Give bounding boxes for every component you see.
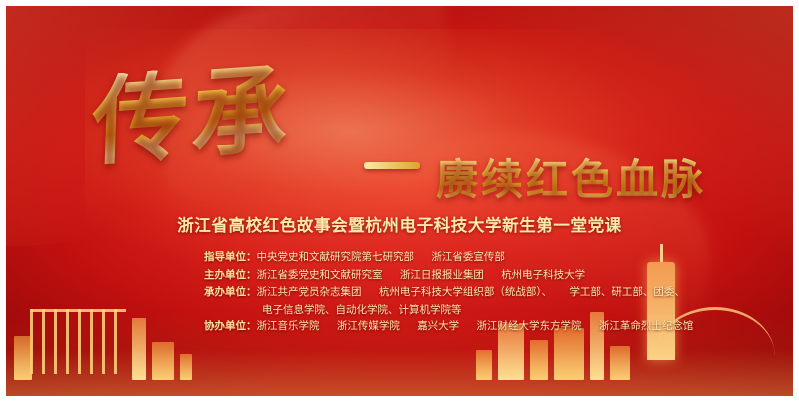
title-dash-decor: [364, 162, 420, 169]
credit-row: 协办单位： 浙江音乐学院 浙江传媒学院 嘉兴大学 浙江财经大学东方学院 浙江革命…: [204, 318, 724, 335]
credit-row: 承办单位： 浙江共产党员杂志集团 杭州电子科技大学组织部（统战部）、 学工部、研…: [204, 284, 724, 301]
credit-values: 浙江共产党员杂志集团 杭州电子科技大学组织部（统战部）、 学工部、研工部、团委、: [257, 284, 725, 301]
poster-canvas: 传承 赓续红色血脉 浙江省高校红色故事会暨杭州电子科技大学新生第一堂党课 指导单…: [6, 6, 793, 396]
credit-label: 协办单位：: [204, 318, 257, 335]
credit-values: 浙江音乐学院 浙江传媒学院 嘉兴大学 浙江财经大学东方学院 浙江革命烈士纪念馆: [257, 318, 725, 335]
credit-value: 浙江省委宣传部: [431, 251, 505, 263]
credit-values: 中央党史和文献研究院第七研究部 浙江省委宣传部: [257, 249, 725, 266]
title-group: 传承 赓续红色血脉 浙江省高校红色故事会暨杭州电子科技大学新生第一堂党课: [6, 6, 793, 396]
main-title-calligraphy: 传承: [91, 61, 294, 171]
credit-label: 主办单位：: [204, 267, 257, 284]
credit-value: 杭州电子科技大学: [501, 269, 585, 281]
credit-value: 浙江省委党史和文献研究室: [257, 269, 383, 281]
event-title: 浙江省高校红色故事会暨杭州电子科技大学新生第一堂党课: [6, 212, 793, 236]
credit-value: 嘉兴大学: [417, 320, 459, 332]
credit-label: 承办单位：: [204, 284, 257, 301]
credit-value: 杭州电子科技大学组织部（统战部）、: [379, 286, 552, 298]
credit-label: 指导单位：: [204, 249, 257, 266]
credit-values: 浙江省委党史和文献研究室 浙江日报报业集团 杭州电子科技大学: [257, 267, 725, 284]
credit-value: 浙江音乐学院: [257, 320, 320, 332]
credit-value: 浙江革命烈士纪念馆: [599, 320, 694, 332]
credit-row: 指导单位： 中央党史和文献研究院第七研究部 浙江省委宣传部: [204, 249, 724, 266]
credit-value: 中央党史和文献研究院第七研究部: [257, 251, 415, 263]
credit-value: 浙江日报报业集团: [400, 269, 484, 281]
sub-title: 赓续红色血脉: [436, 146, 706, 207]
credit-row: 主办单位： 浙江省委党史和文献研究室 浙江日报报业集团 杭州电子科技大学: [204, 267, 724, 284]
credits-block: 指导单位： 中央党史和文献研究院第七研究部 浙江省委宣传部 主办单位： 浙江省委…: [204, 249, 724, 336]
credit-value: 浙江共产党员杂志集团: [257, 286, 362, 298]
credit-continuation: 电子信息学院、自动化学院、计算机学院等: [204, 302, 724, 319]
credit-value: 学工部、研工部、团委、: [569, 286, 685, 298]
credit-value: 浙江传媒学院: [337, 320, 400, 332]
poster-screenshot: 传承 赓续红色血脉 浙江省高校红色故事会暨杭州电子科技大学新生第一堂党课 指导单…: [0, 0, 799, 402]
credit-value: 浙江财经大学东方学院: [477, 320, 582, 332]
